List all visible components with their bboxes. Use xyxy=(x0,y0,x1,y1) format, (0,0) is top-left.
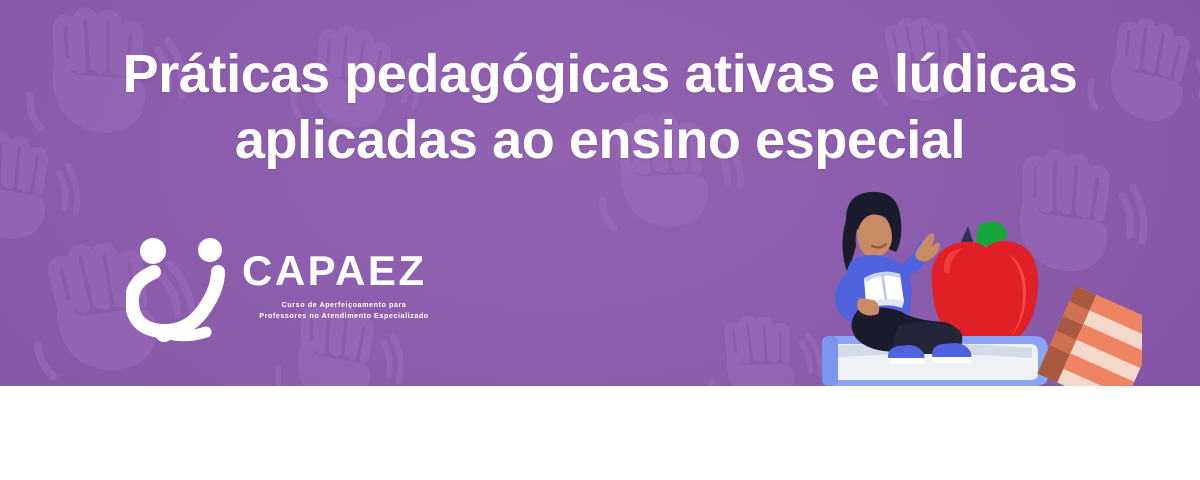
capaez-subtitle: Curso de Aperfeiçoamento para Professore… xyxy=(242,299,446,321)
footer-logo-bar: NIPI Núcleo Interinstitucional de Políti… xyxy=(0,386,1200,480)
course-banner: Práticas pedagógicas ativas e lúdicas ap… xyxy=(0,0,1200,480)
orange-book-graphic xyxy=(1037,286,1142,386)
title-line-2: aplicadas ao ensino especial xyxy=(0,108,1200,174)
girl-reading-illustration xyxy=(802,186,1142,386)
capaez-subtitle-line-1: Curso de Aperfeiçoamento para xyxy=(248,299,440,310)
capaez-logo: CAPAEZ Curso de Aperfeiçoamento para Pro… xyxy=(126,232,446,344)
title-line-1: Práticas pedagógicas ativas e lúdicas xyxy=(0,42,1200,108)
capaez-subtitle-line-2: Professores no Atendimento Especializado xyxy=(248,310,440,321)
capaez-symbol-icon xyxy=(126,232,236,344)
page-title: Práticas pedagógicas ativas e lúdicas ap… xyxy=(0,42,1200,174)
hero-purple-background: Práticas pedagógicas ativas e lúdicas ap… xyxy=(0,0,1200,386)
capaez-acronym: CAPAEZ xyxy=(242,250,446,292)
capaez-wordmark: CAPAEZ Curso de Aperfeiçoamento para Pro… xyxy=(242,250,446,321)
